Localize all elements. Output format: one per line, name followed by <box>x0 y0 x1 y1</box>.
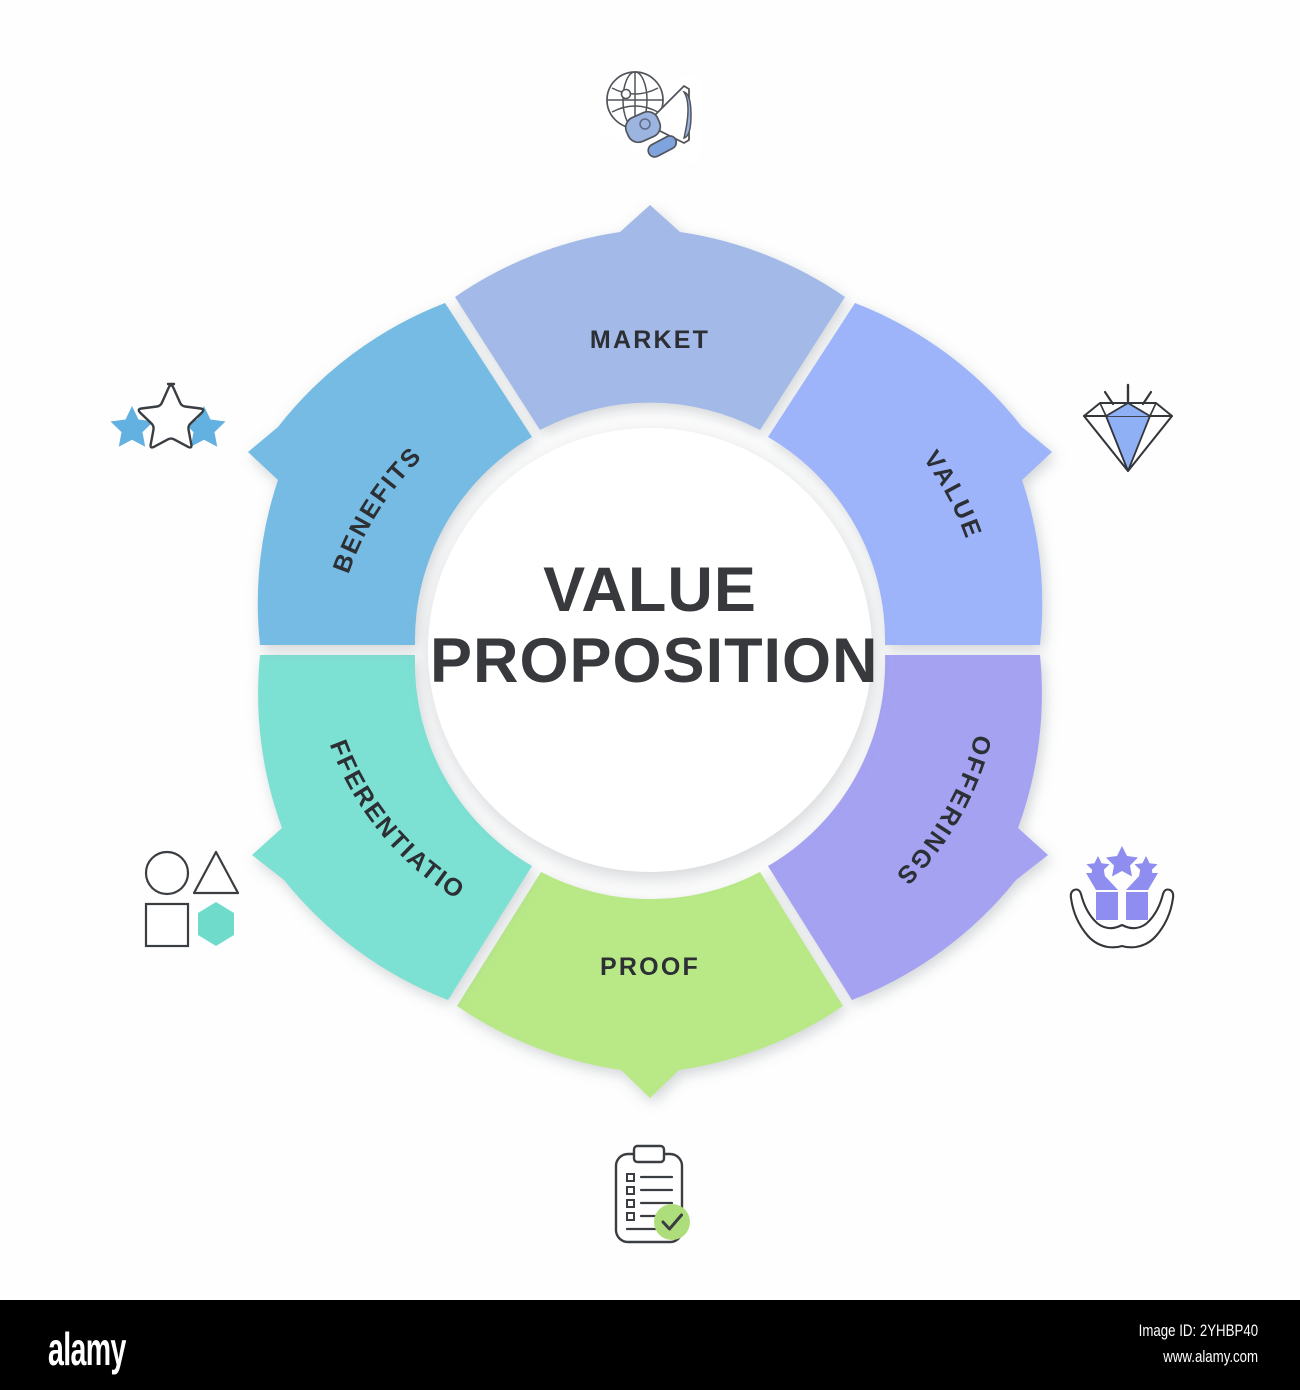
footer-bar: alamy Image ID: 2YHBP40 www.alamy.com <box>0 1300 1300 1390</box>
segment-proof-label: PROOF <box>600 953 700 981</box>
globe-megaphone-icon <box>588 52 708 172</box>
gift-in-hands-icon <box>1062 840 1182 960</box>
diamond-icon <box>1068 365 1188 485</box>
value-proposition-wheel: MARKET VALUE OFFERINGS PROOF DIFFERENTIA… <box>0 0 1300 1300</box>
checklist-clipboard-icon <box>590 1140 710 1260</box>
segment-market-shape <box>455 205 845 430</box>
alamy-logo: alamy <box>48 1322 126 1376</box>
segment-market-label: MARKET <box>590 326 710 354</box>
website-text[interactable]: www.alamy.com <box>1139 1344 1258 1370</box>
segment-proof[interactable] <box>457 872 843 1098</box>
infographic-canvas: MARKET VALUE OFFERINGS PROOF DIFFERENTIA… <box>0 0 1300 1300</box>
image-id-text: Image ID: 2YHBP40 <box>1139 1318 1258 1344</box>
segment-proof-shape <box>457 872 843 1098</box>
footer-meta: Image ID: 2YHBP40 www.alamy.com <box>1139 1318 1258 1371</box>
shapes-icon <box>132 840 252 960</box>
three-stars-icon <box>108 370 228 490</box>
center-disc <box>428 428 872 872</box>
segment-market[interactable] <box>455 205 845 430</box>
